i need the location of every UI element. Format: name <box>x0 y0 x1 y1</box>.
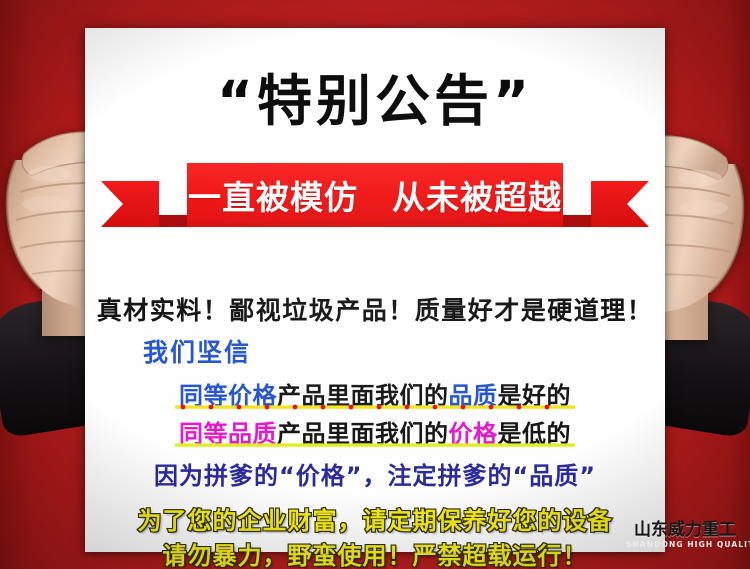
sign-board: “特别公告” <box>85 28 665 552</box>
claim-two-underline <box>175 442 575 448</box>
page-title: “特别公告” <box>85 74 665 129</box>
watermark-english: SHANDONG HIGH QUALITY <box>626 540 744 550</box>
watermark: 山东威力重工 SHANDONG HIGH QUALITY <box>626 521 744 565</box>
warning-line-two: 请勿暴力，野蛮使用！严禁超载运行！ <box>85 536 665 569</box>
watermark-chinese: 山东威力重工 <box>626 521 744 540</box>
claim-one-underline <box>175 404 575 410</box>
poster-root: “特别公告” <box>0 0 750 569</box>
ribbon-text: 一直被模仿 从未被超越 <box>101 159 649 235</box>
warning-line-one: 为了您的企业财富，请定期保养好您的设备 <box>85 501 665 536</box>
sign-board-content: “特别公告” <box>85 28 665 552</box>
believe-heading: 我们坚信 <box>143 333 251 369</box>
slogan-black-line: 真材实料！鄙视垃圾产品！质量好才是硬道理！ <box>85 291 665 327</box>
ribbon-banner: 一直被模仿 从未被超越 <box>101 159 649 235</box>
navy-slogan-line: 因为拼爹的“价格”，注定拼爹的“品质” <box>85 456 665 491</box>
